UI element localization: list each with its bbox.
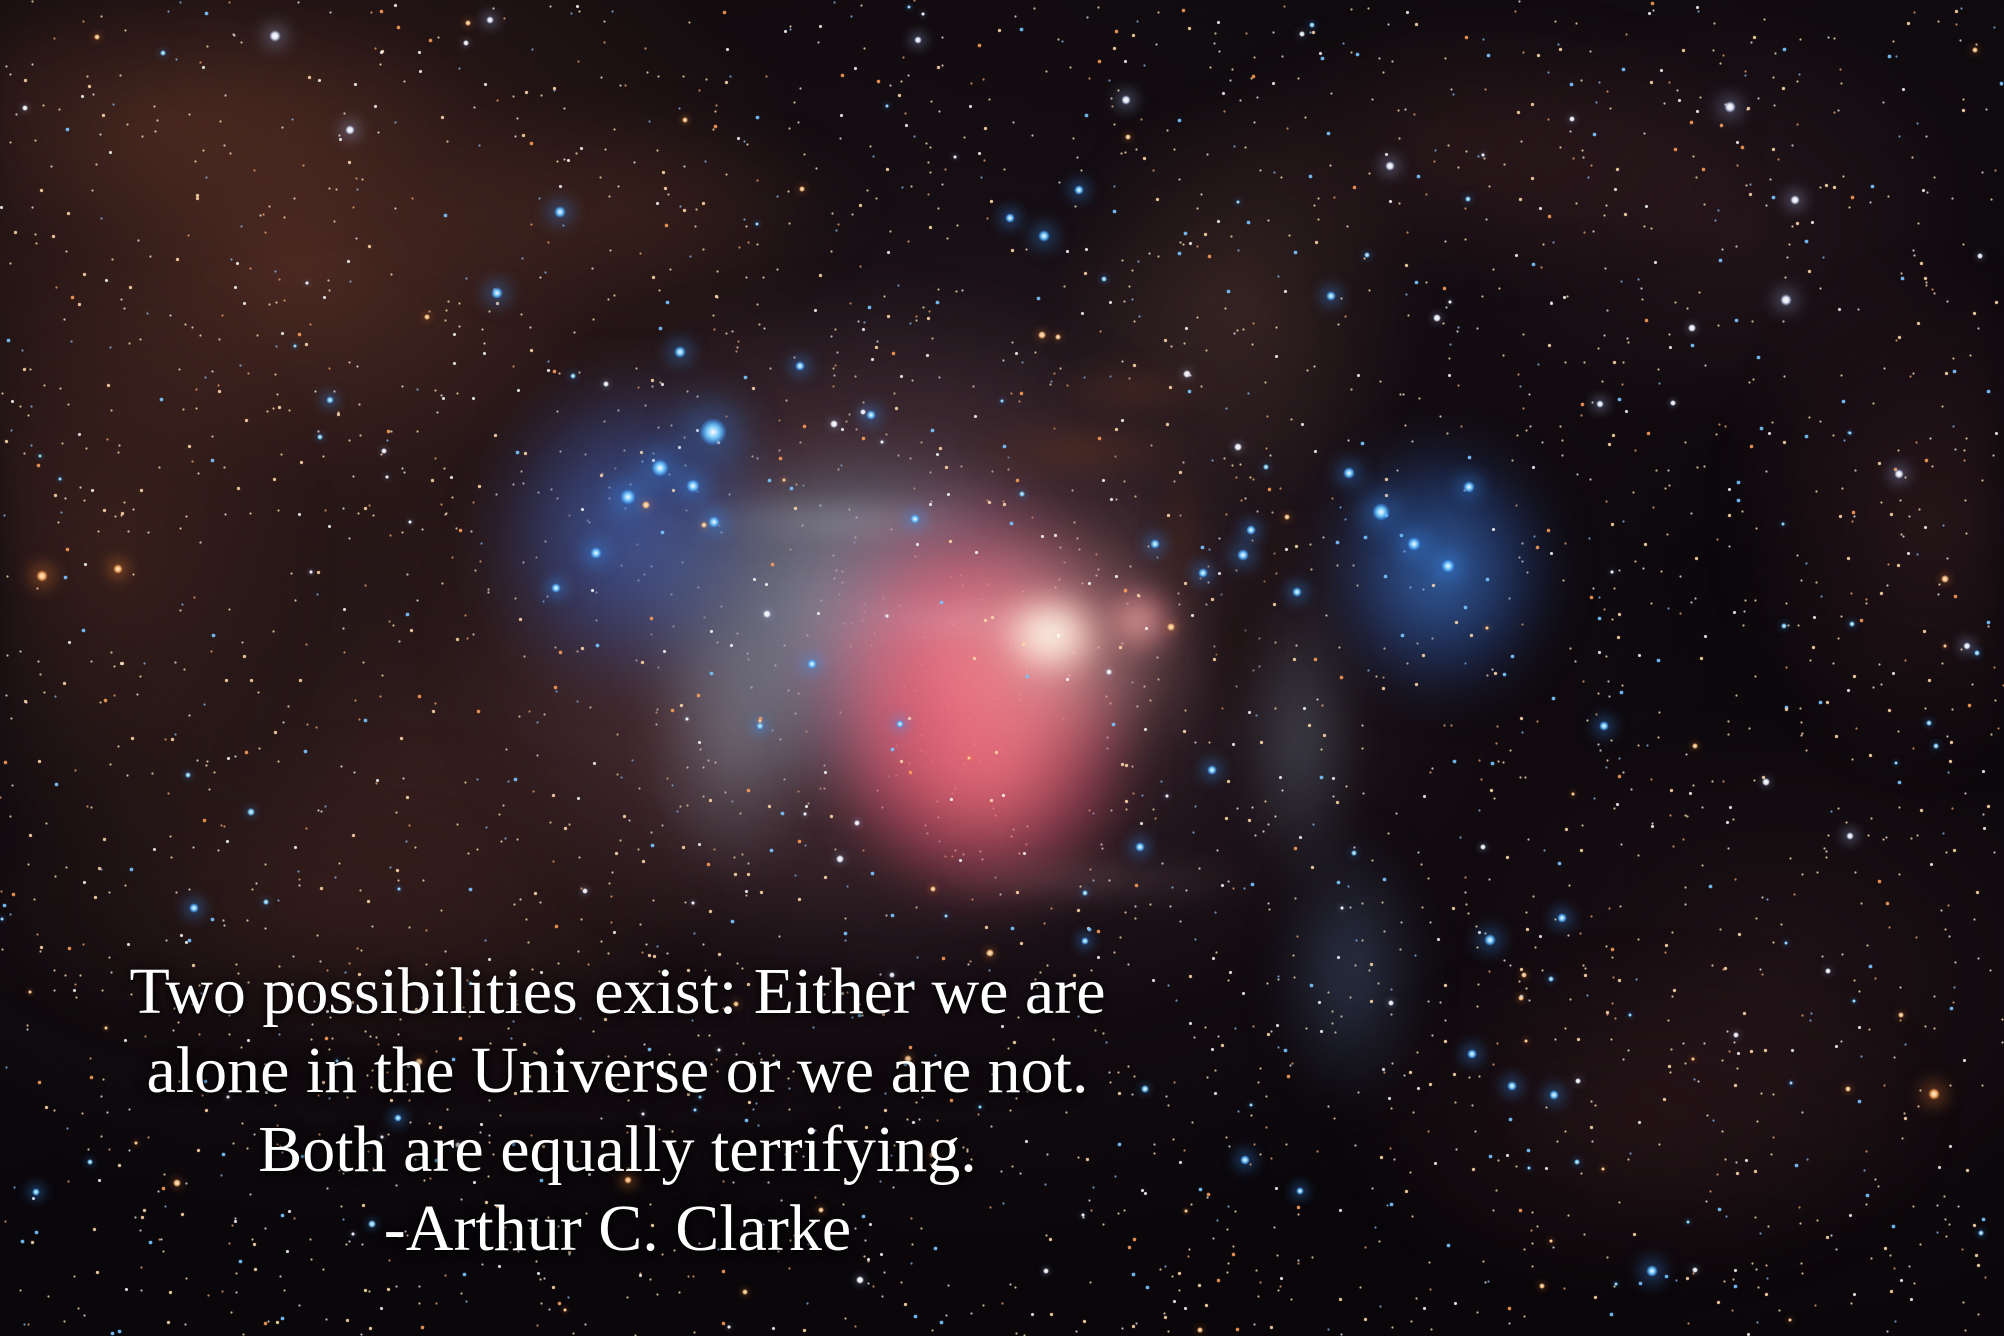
star bbox=[1575, 1078, 1582, 1085]
star bbox=[1234, 443, 1241, 450]
star bbox=[1465, 196, 1471, 202]
star bbox=[1372, 503, 1390, 521]
star bbox=[1246, 525, 1256, 535]
star bbox=[113, 564, 123, 574]
nebula-core-glow bbox=[840, 440, 1280, 860]
star bbox=[620, 489, 636, 505]
star bbox=[967, 756, 971, 760]
star bbox=[486, 16, 494, 24]
pink-globule bbox=[1030, 530, 1210, 700]
quote-line-3: Both are equally terrifying. bbox=[0, 1110, 1235, 1189]
star bbox=[763, 610, 770, 617]
nebula-wisps bbox=[540, 320, 1540, 1040]
star bbox=[1263, 464, 1270, 471]
star bbox=[1198, 568, 1208, 578]
star bbox=[22, 105, 28, 111]
star bbox=[758, 719, 762, 723]
star bbox=[463, 40, 469, 46]
star bbox=[94, 34, 100, 40]
star bbox=[1197, 1327, 1204, 1334]
star bbox=[1688, 324, 1695, 331]
star bbox=[885, 614, 889, 618]
star bbox=[803, 812, 808, 817]
star bbox=[686, 479, 700, 493]
star bbox=[1646, 1265, 1658, 1277]
star bbox=[1485, 626, 1490, 631]
star bbox=[701, 522, 706, 527]
star bbox=[854, 820, 859, 825]
star bbox=[582, 888, 587, 893]
star bbox=[1237, 549, 1249, 561]
star bbox=[682, 117, 687, 122]
star bbox=[1326, 291, 1336, 301]
star bbox=[317, 434, 323, 440]
star bbox=[1894, 761, 1898, 765]
star bbox=[1894, 469, 1904, 479]
star bbox=[1692, 743, 1697, 748]
star bbox=[1407, 537, 1421, 551]
star bbox=[551, 583, 561, 593]
star bbox=[1038, 230, 1050, 242]
star bbox=[1610, 570, 1614, 574]
star bbox=[1480, 844, 1485, 849]
star bbox=[1101, 276, 1106, 281]
quote-line-2: alone in the Universe or we are not. bbox=[0, 1031, 1235, 1110]
star bbox=[795, 361, 805, 371]
star bbox=[1463, 481, 1475, 493]
star bbox=[1898, 1012, 1904, 1018]
star bbox=[642, 501, 649, 508]
star bbox=[1388, 1000, 1393, 1005]
star bbox=[1074, 185, 1084, 195]
star bbox=[1569, 116, 1575, 122]
star bbox=[36, 570, 48, 582]
star bbox=[1165, 794, 1170, 799]
star bbox=[424, 314, 430, 320]
star bbox=[1781, 623, 1787, 629]
star bbox=[944, 914, 949, 919]
quote-overlay: Two possibilities exist: Either we are a… bbox=[0, 952, 1235, 1268]
star bbox=[1846, 832, 1854, 840]
star bbox=[1686, 1220, 1689, 1223]
star bbox=[1788, 1318, 1793, 1323]
star bbox=[305, 281, 309, 285]
star bbox=[1724, 101, 1736, 113]
star bbox=[1628, 1013, 1632, 1017]
star bbox=[1926, 720, 1931, 725]
star bbox=[563, 1308, 567, 1312]
star bbox=[1781, 522, 1785, 526]
star bbox=[1762, 778, 1769, 785]
star bbox=[691, 901, 694, 904]
star bbox=[1249, 1103, 1253, 1107]
star bbox=[1441, 559, 1455, 573]
star bbox=[651, 459, 669, 477]
star bbox=[1692, 1267, 1698, 1273]
star bbox=[1135, 842, 1145, 852]
star bbox=[1670, 400, 1675, 405]
star bbox=[885, 104, 889, 108]
star bbox=[0, 917, 4, 921]
star bbox=[1518, 995, 1523, 1000]
star bbox=[953, 155, 957, 159]
star bbox=[1340, 906, 1344, 910]
star bbox=[1038, 331, 1045, 338]
star bbox=[930, 886, 936, 892]
star bbox=[1789, 1081, 1793, 1085]
star bbox=[1448, 300, 1452, 304]
star bbox=[58, 477, 62, 481]
star bbox=[1557, 913, 1567, 923]
star bbox=[1521, 972, 1527, 978]
star bbox=[896, 720, 904, 728]
star bbox=[836, 855, 843, 862]
star bbox=[1780, 294, 1792, 306]
star bbox=[1343, 467, 1355, 479]
dark-dust-pillar bbox=[1130, 470, 1350, 810]
star bbox=[1106, 669, 1111, 674]
midground-starfield bbox=[0, 0, 1, 1]
star bbox=[1849, 621, 1854, 626]
star bbox=[1825, 968, 1831, 974]
nebula-outer-halo bbox=[330, 180, 1390, 1080]
star bbox=[1150, 539, 1160, 549]
star bbox=[1309, 22, 1316, 29]
star bbox=[269, 30, 281, 42]
blue-reflection-nebula-right bbox=[1250, 370, 1650, 770]
star bbox=[1467, 1049, 1477, 1059]
star bbox=[381, 448, 387, 454]
dark-dust-lane bbox=[880, 330, 1320, 710]
star bbox=[309, 570, 312, 573]
star bbox=[1784, 941, 1788, 945]
star bbox=[807, 659, 817, 669]
pink-emission-cloud bbox=[700, 400, 1260, 960]
star bbox=[1852, 999, 1855, 1002]
star bbox=[1284, 514, 1290, 520]
star bbox=[1733, 1032, 1739, 1038]
star bbox=[782, 478, 786, 482]
star bbox=[1974, 650, 1979, 655]
star bbox=[1351, 850, 1358, 857]
quote-attribution: -Arthur C. Clarke bbox=[0, 1189, 1235, 1268]
star bbox=[856, 1276, 863, 1283]
star bbox=[1933, 743, 1939, 749]
star bbox=[1928, 1088, 1940, 1100]
star bbox=[1043, 1268, 1048, 1273]
star bbox=[570, 373, 577, 380]
star bbox=[799, 186, 806, 193]
star bbox=[1848, 431, 1851, 434]
star bbox=[491, 287, 503, 299]
star bbox=[1790, 195, 1800, 205]
star bbox=[1571, 792, 1576, 797]
star bbox=[385, 475, 390, 480]
star bbox=[397, 887, 401, 891]
star bbox=[1082, 890, 1087, 895]
star bbox=[1548, 976, 1553, 981]
star bbox=[1549, 1090, 1559, 1100]
star bbox=[1845, 1086, 1852, 1093]
star bbox=[1978, 1230, 1983, 1235]
star bbox=[755, 222, 759, 226]
star bbox=[1385, 161, 1395, 171]
star bbox=[907, 5, 911, 9]
star bbox=[345, 125, 355, 135]
star bbox=[1299, 31, 1306, 38]
star bbox=[1081, 937, 1089, 945]
star bbox=[1005, 213, 1015, 223]
star bbox=[1599, 721, 1609, 731]
star bbox=[880, 440, 884, 444]
star bbox=[38, 454, 43, 459]
star bbox=[1527, 1166, 1531, 1170]
star bbox=[727, 1325, 731, 1329]
star bbox=[247, 808, 255, 816]
star bbox=[465, 20, 472, 27]
star bbox=[1941, 575, 1948, 582]
star bbox=[1167, 623, 1174, 630]
star bbox=[1484, 934, 1496, 946]
background-starfield bbox=[0, 0, 1, 1]
star bbox=[1364, 252, 1371, 259]
star bbox=[1977, 253, 1983, 259]
star bbox=[866, 410, 876, 420]
star bbox=[674, 346, 686, 358]
cyan-nebula-wing bbox=[560, 380, 1180, 880]
star bbox=[1574, 1159, 1580, 1165]
star bbox=[1963, 642, 1971, 650]
quote-line-1: Two possibilities exist: Either we are bbox=[0, 952, 1235, 1031]
star bbox=[263, 899, 270, 906]
star bbox=[1125, 134, 1131, 140]
star bbox=[1972, 47, 1979, 54]
star bbox=[921, 12, 926, 17]
star bbox=[742, 1289, 747, 1294]
star bbox=[1236, 200, 1241, 205]
star bbox=[1019, 491, 1026, 498]
star bbox=[1121, 95, 1131, 105]
star bbox=[1601, 1167, 1606, 1172]
star bbox=[1614, 1282, 1618, 1286]
star bbox=[408, 520, 412, 524]
star bbox=[293, 344, 297, 348]
star bbox=[1000, 399, 1004, 403]
star bbox=[1296, 1187, 1304, 1195]
star bbox=[1943, 644, 1946, 647]
star bbox=[160, 50, 167, 57]
star bbox=[860, 409, 867, 416]
star bbox=[914, 36, 922, 44]
star bbox=[1691, 1057, 1695, 1061]
star bbox=[1055, 334, 1061, 340]
star bbox=[1524, 1039, 1529, 1044]
blue-reflection-nebula-left bbox=[430, 300, 850, 780]
star bbox=[1539, 1283, 1545, 1289]
pink-emission-cloud-lower bbox=[760, 560, 1220, 980]
star bbox=[1240, 1155, 1250, 1165]
star bbox=[1433, 314, 1440, 321]
star bbox=[1507, 1081, 1517, 1091]
star bbox=[554, 206, 566, 218]
star bbox=[1549, 1239, 1554, 1244]
star bbox=[1292, 587, 1302, 597]
nebula-core bbox=[920, 520, 1180, 750]
star bbox=[189, 903, 199, 913]
star bbox=[910, 514, 920, 524]
star bbox=[708, 516, 720, 528]
star bbox=[1183, 370, 1190, 377]
star bbox=[1596, 400, 1604, 408]
star bbox=[603, 381, 609, 387]
star bbox=[185, 772, 191, 778]
star bbox=[326, 396, 334, 404]
star bbox=[830, 420, 837, 427]
star bbox=[756, 722, 764, 730]
star bbox=[590, 547, 602, 559]
star bbox=[1207, 765, 1217, 775]
star bbox=[685, 717, 689, 721]
star bbox=[1481, 153, 1485, 157]
star bbox=[699, 418, 727, 446]
space-photo-canvas: Two possibilities exist: Either we are a… bbox=[0, 0, 2004, 1336]
